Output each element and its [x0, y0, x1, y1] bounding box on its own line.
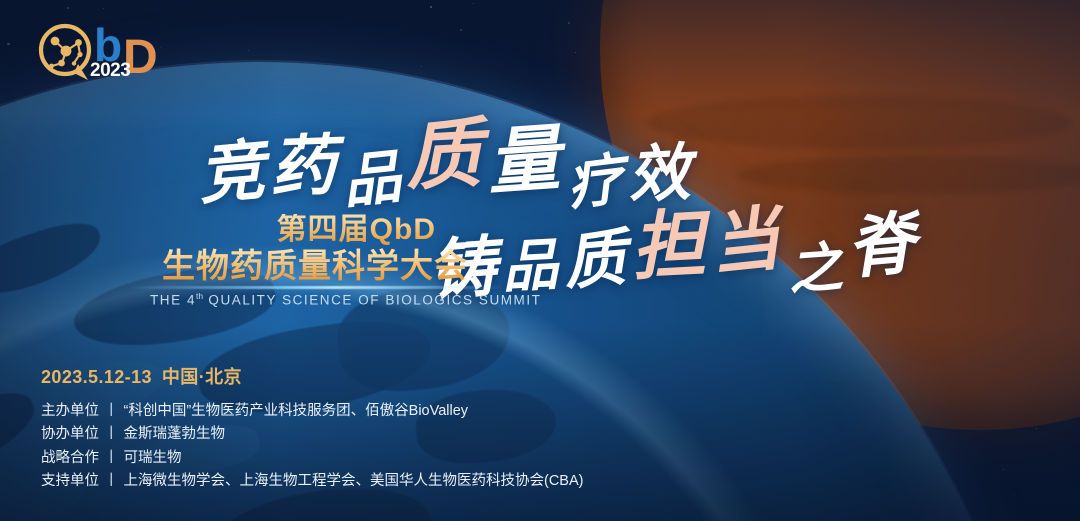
calligraphy-char: 品 — [340, 148, 410, 212]
calligraphy-char: 质 — [404, 116, 490, 196]
page-title-line-2: 生物药质量科学大会 — [150, 248, 480, 284]
conference-banner: D b 2023 竞药品质量疗效 铸品质担当之脊 第四届QbD 生物药质量科学大… — [0, 0, 1080, 521]
organizer-value: 金斯瑞蓬勃生物 — [124, 426, 226, 442]
calligraphy-char: 当 — [707, 204, 790, 282]
organizer-separator: 丨 — [104, 473, 119, 489]
star-dot — [460, 29, 462, 31]
headline-calligraphy-line-1: 竞药品质量疗效 — [198, 128, 696, 204]
organizer-line: 主办单位丨“科创中国”生物医药产业科技服务团、佰傲谷BioValley — [41, 400, 583, 423]
event-date: 2023.5.12-13 — [41, 367, 152, 387]
calligraphy-char: 药 — [269, 134, 343, 202]
title-english-suffix: QUALITY SCIENCE OF BIOLOGICS SUMMIT — [203, 293, 541, 308]
star-dot — [1003, 469, 1004, 470]
calligraphy-char: 竞 — [196, 138, 273, 210]
organizer-separator: 丨 — [104, 450, 119, 466]
organizer-label: 主办单位 — [41, 403, 99, 419]
conference-title-block: 第四届QbD 生物药质量科学大会 THE 4th QUALITY SCIENCE… — [150, 214, 480, 308]
organizer-separator: 丨 — [104, 426, 119, 442]
calligraphy-char: 疗 — [564, 151, 632, 214]
title-divider — [128, 286, 504, 289]
star-dot — [575, 52, 576, 53]
star-dot — [983, 445, 984, 446]
organizer-value: 上海微生物学会、上海生物工程学会、美国华人生物医药科技协会(CBA) — [124, 473, 584, 489]
star-dot — [1036, 428, 1037, 429]
organizer-label: 战略合作 — [41, 450, 99, 466]
organizer-label: 协办单位 — [41, 426, 99, 442]
star-dot — [473, 3, 474, 4]
logo-year: 2023 — [90, 61, 130, 80]
star-dot — [430, 6, 432, 8]
star-dot — [568, 22, 570, 24]
organizer-separator: 丨 — [104, 403, 119, 419]
event-city: 中国·北京 — [162, 367, 242, 387]
calligraphy-char: 量 — [485, 122, 568, 199]
calligraphy-char: 品 — [501, 237, 566, 296]
organizer-line: 战略合作丨可瑞生物 — [41, 447, 583, 470]
page-title-line-1: 第四届QbD — [150, 214, 480, 246]
star-dot — [67, 7, 69, 9]
calligraphy-char: 脊 — [844, 209, 924, 283]
star-dot — [248, 50, 249, 51]
calligraphy-char: 质 — [561, 227, 634, 295]
event-info-block: 2023.5.12-13中国·北京 主办单位丨“科创中国”生物医药产业科技服务团… — [41, 363, 583, 494]
star-dot — [1035, 503, 1036, 504]
star-dot — [103, 8, 105, 10]
organizer-value: 可瑞生物 — [124, 450, 182, 466]
star-dot — [7, 43, 9, 45]
star-dot — [1014, 494, 1015, 495]
calligraphy-char: 之 — [786, 240, 850, 298]
title-english-subtitle: THE 4th QUALITY SCIENCE OF BIOLOGICS SUM… — [150, 291, 480, 308]
organizer-value: “科创中国”生物医药产业科技服务团、佰傲谷BioValley — [124, 403, 469, 419]
headline-calligraphy-line-2: 铸品质担当之脊 — [430, 222, 922, 296]
organizer-lines: 主办单位丨“科创中国”生物医药产业科技服务团、佰傲谷BioValley协办单位丨… — [41, 400, 583, 494]
event-date-location: 2023.5.12-13中国·北京 — [41, 363, 583, 389]
calligraphy-char: 担 — [630, 208, 714, 286]
organizer-label: 支持单位 — [41, 473, 99, 489]
calligraphy-char: 效 — [627, 142, 698, 207]
qbd-logo[interactable]: D b 2023 — [34, 18, 184, 88]
title-english-prefix: THE 4 — [150, 293, 196, 308]
organizer-line: 支持单位丨上海微生物学会、上海生物工程学会、美国华人生物医药科技协会(CBA) — [41, 470, 583, 493]
organizer-line: 协办单位丨金斯瑞蓬勃生物 — [41, 423, 583, 446]
star-dot — [421, 66, 422, 67]
